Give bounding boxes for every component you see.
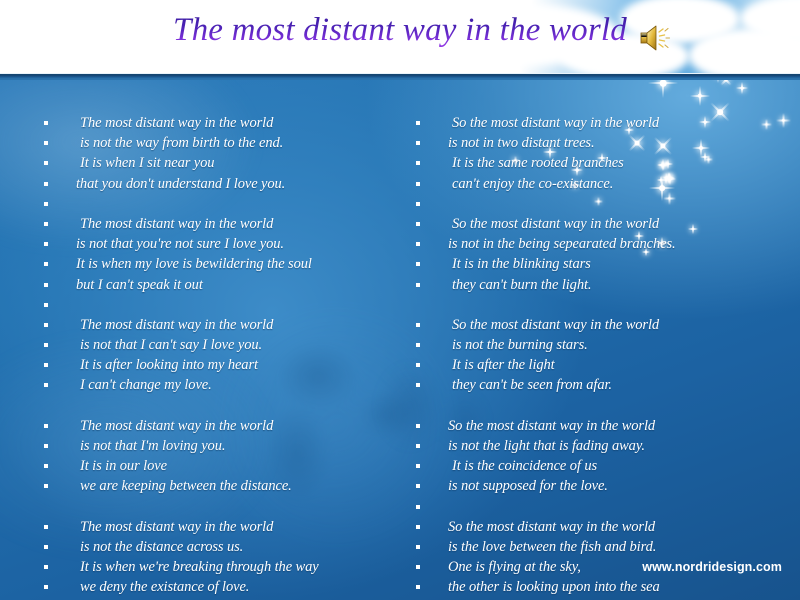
bullet-icon <box>44 545 48 549</box>
bullet-icon <box>416 424 420 428</box>
poem-line: can't enjoy the co-existance. <box>412 174 772 194</box>
poem-line: It is when my love is bewildering the so… <box>40 254 380 274</box>
poem-line-text: The most distant way in the world <box>40 113 380 133</box>
poem-line: It is after looking into my heart <box>40 355 380 375</box>
poem-line: It is the coincidence of us <box>412 456 772 476</box>
poem-line: So the most distant way in the world <box>412 517 772 537</box>
poem-line: is not the distance across us. <box>40 537 380 557</box>
bullet-icon <box>44 262 48 266</box>
poem-line: is not supposed for the love. <box>412 476 772 496</box>
bullet-icon <box>416 242 420 246</box>
poem-line: It is when I sit near you <box>40 153 380 173</box>
poem-line: we deny the existance of love. <box>40 577 380 597</box>
poem-line <box>412 194 772 214</box>
bullet-icon <box>416 525 420 529</box>
poem-line-text: is not supposed for the love. <box>412 476 772 496</box>
poem-line-text: So the most distant way in the world <box>412 517 772 537</box>
poem-line-text <box>412 497 772 517</box>
poem-line-text: the other is looking upon into the sea <box>412 577 772 597</box>
poem-line: The most distant way in the world <box>40 113 380 133</box>
poem-line-text: It is in the blinking stars <box>412 254 772 274</box>
bullet-icon <box>416 444 420 448</box>
poem-line-text: is not the burning stars. <box>412 335 772 355</box>
poem-line-text: can't enjoy the co-existance. <box>412 174 772 194</box>
poem-line: I can't change my love. <box>40 375 380 395</box>
bullet-icon <box>44 444 48 448</box>
bullet-icon <box>416 161 420 165</box>
bullet-icon <box>44 182 48 186</box>
bullet-icon <box>44 283 48 287</box>
poem-line-text: is not in two distant trees. <box>412 133 772 153</box>
poem-line <box>40 194 380 214</box>
header-divider <box>0 73 800 80</box>
poem-line: It is in our love <box>40 456 380 476</box>
poem-line: So the most distant way in the world <box>412 113 772 133</box>
bullet-icon <box>416 464 420 468</box>
bullet-icon <box>44 141 48 145</box>
poem-line <box>40 497 380 517</box>
poem-line: So the most distant way in the world <box>412 315 772 335</box>
poem-line-text <box>412 396 772 416</box>
bullet-icon <box>416 505 420 509</box>
bullet-icon <box>44 424 48 428</box>
poem-line: The most distant way in the world <box>40 517 380 537</box>
bullet-icon <box>44 484 48 488</box>
poem-line-text: is not the light that is fading away. <box>412 436 772 456</box>
poem-line-text: that you don't understand I love you. <box>40 174 380 194</box>
poem-line <box>412 396 772 416</box>
poem-column-left: The most distant way in the world is not… <box>40 113 380 598</box>
poem-line: is not that I'm loving you. <box>40 436 380 456</box>
poem-line: So the most distant way in the world <box>412 416 772 436</box>
poem-line-text: It is the same rooted branches <box>412 153 772 173</box>
bullet-icon <box>44 222 48 226</box>
poem-line-text: is not the distance across us. <box>40 537 380 557</box>
bullet-icon <box>44 121 48 125</box>
bullet-icon <box>416 262 420 266</box>
poem-line: but I can't speak it out <box>40 275 380 295</box>
bullet-icon <box>44 363 48 367</box>
bullet-icon <box>416 343 420 347</box>
bullet-icon <box>44 525 48 529</box>
poem-line: It is in the blinking stars <box>412 254 772 274</box>
poem-line-text: is not that I'm loving you. <box>40 436 380 456</box>
poem-line: The most distant way in the world <box>40 214 380 234</box>
poem-line: is not in the being sepearated branches. <box>412 234 772 254</box>
poem-line-text <box>40 497 380 517</box>
bullet-icon <box>44 585 48 589</box>
poem-line: The most distant way in the world <box>40 416 380 436</box>
poem-line-text: So the most distant way in the world <box>412 416 772 436</box>
poem-line-text: is not that I can't say I love you. <box>40 335 380 355</box>
poem-line-text <box>40 396 380 416</box>
poem-line: we are keeping between the distance. <box>40 476 380 496</box>
poem-line <box>412 497 772 517</box>
poem-line-text <box>412 194 772 214</box>
poem-line: So the most distant way in the world <box>412 214 772 234</box>
poem-line-text: It is in our love <box>40 456 380 476</box>
poem-line-text: we deny the existance of love. <box>40 577 380 597</box>
poem-line: they can't burn the light. <box>412 275 772 295</box>
poem-line: the other is looking upon into the sea <box>412 577 772 597</box>
poem-line: is not that you're not sure I love you. <box>40 234 380 254</box>
bullet-icon <box>44 242 48 246</box>
poem-line-text: So the most distant way in the world <box>412 113 772 133</box>
poem-line-text <box>412 295 772 315</box>
poem-line-text: is not that you're not sure I love you. <box>40 234 380 254</box>
bullet-icon <box>44 323 48 327</box>
poem-line-text: The most distant way in the world <box>40 315 380 335</box>
bullet-icon <box>416 182 420 186</box>
poem-line-text: is not the way from birth to the end. <box>40 133 380 153</box>
slide-canvas: The most distant way in the world <box>0 0 800 600</box>
poem-line: is not in two distant trees. <box>412 133 772 153</box>
poem-line: is not the light that is fading away. <box>412 436 772 456</box>
poem-line: The most distant way in the world <box>40 315 380 335</box>
bullet-icon <box>44 464 48 468</box>
page-title: The most distant way in the world <box>0 12 800 49</box>
poem-line-text: they can't be seen from afar. <box>412 375 772 395</box>
bullet-icon <box>416 141 420 145</box>
poem-line: they can't be seen from afar. <box>412 375 772 395</box>
poem-line-text: but I can't speak it out <box>40 275 380 295</box>
bullet-icon <box>416 484 420 488</box>
poem-line: It is the same rooted branches <box>412 153 772 173</box>
poem-line: that you don't understand I love you. <box>40 174 380 194</box>
poem-line-text: is the love between the fish and bird. <box>412 537 772 557</box>
poem-line-text: So the most distant way in the world <box>412 315 772 335</box>
poem-line: is not the burning stars. <box>412 335 772 355</box>
bullet-icon <box>416 323 420 327</box>
poem-line-text <box>40 194 380 214</box>
bullet-icon <box>44 303 48 307</box>
poem-line-text: we are keeping between the distance. <box>40 476 380 496</box>
bullet-icon <box>416 383 420 387</box>
bullet-icon <box>44 161 48 165</box>
bullet-icon <box>416 363 420 367</box>
bullet-icon <box>416 222 420 226</box>
bullet-icon <box>416 121 420 125</box>
poem-line <box>40 295 380 315</box>
poem-line-text: It is when my love is bewildering the so… <box>40 254 380 274</box>
bullet-icon <box>44 202 48 206</box>
poem-line-text: they can't burn the light. <box>412 275 772 295</box>
poem-line-text: It is when I sit near you <box>40 153 380 173</box>
poem-line-text: I can't change my love. <box>40 375 380 395</box>
bullet-icon <box>416 283 420 287</box>
poem-line <box>412 295 772 315</box>
poem-line-text: The most distant way in the world <box>40 517 380 537</box>
bullet-icon <box>44 383 48 387</box>
poem-line-text: So the most distant way in the world <box>412 214 772 234</box>
poem-column-right: So the most distant way in the worldis n… <box>412 113 772 598</box>
bullet-icon <box>416 545 420 549</box>
poem-line: is the love between the fish and bird. <box>412 537 772 557</box>
poem-line-text: The most distant way in the world <box>40 214 380 234</box>
poem-line-text: It is the coincidence of us <box>412 456 772 476</box>
poem-line: is not that I can't say I love you. <box>40 335 380 355</box>
bullet-icon <box>44 343 48 347</box>
poem-line: It is after the light <box>412 355 772 375</box>
poem-line-text: The most distant way in the world <box>40 416 380 436</box>
poem-line-text: It is after looking into my heart <box>40 355 380 375</box>
bullet-icon <box>416 202 420 206</box>
footer-website[interactable]: www.nordridesign.com <box>0 560 782 574</box>
poem-line-text: It is after the light <box>412 355 772 375</box>
poem-line: is not the way from birth to the end. <box>40 133 380 153</box>
poem-line-text: is not in the being sepearated branches. <box>412 234 772 254</box>
bullet-icon <box>416 585 420 589</box>
poem-line-text <box>40 295 380 315</box>
poem-line <box>40 396 380 416</box>
speaker-icon[interactable] <box>636 22 676 54</box>
